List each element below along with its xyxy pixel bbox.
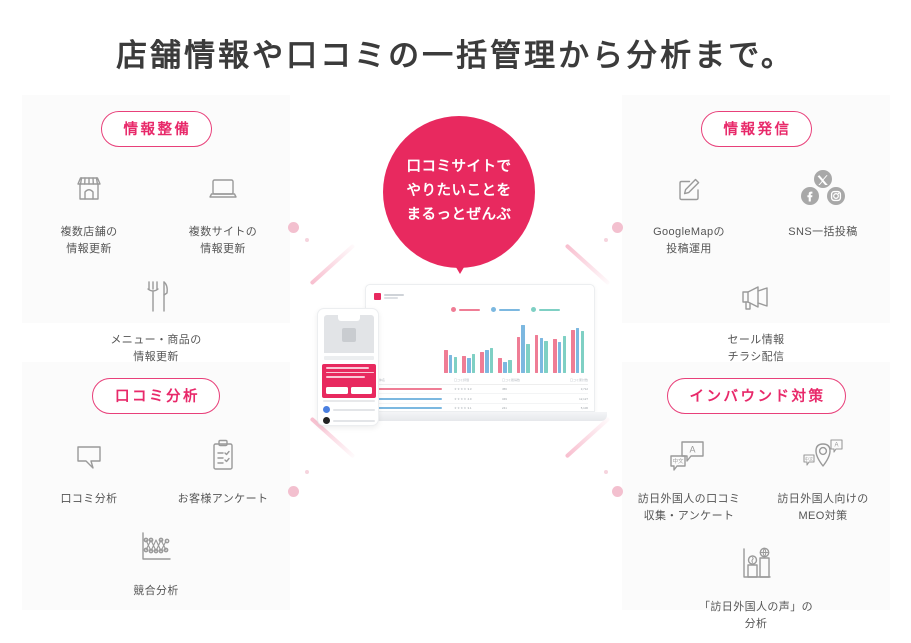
quadrant-joho-hasshin: 情報発信 GoogleMapの 投稿運用	[622, 95, 890, 371]
table-header-row: 媒体名 口コミ評価 口コミ獲得数 口コミ累計数	[376, 378, 588, 385]
decorative-dot-small	[604, 470, 608, 474]
svg-text:A: A	[834, 443, 838, 449]
phone-list-item[interactable]	[323, 416, 375, 425]
pill-wrap: 情報整備	[22, 111, 290, 147]
speech-bubble-icon	[69, 430, 109, 482]
table-header-cell: 媒体名	[376, 378, 454, 382]
table-row[interactable]: ★★★★ 4.034912,127	[376, 394, 588, 403]
item-list: 複数店舗の 情報更新 複数サイトの 情報更新	[22, 163, 290, 371]
chart-bar	[472, 354, 476, 373]
chart-bar	[571, 330, 575, 373]
center-bubble-text: 口コミサイトで やりたいことを まるっとぜんぶ	[407, 156, 512, 228]
feature-item[interactable]: 複数店舗の 情報更新	[22, 163, 156, 257]
feature-label: セール情報 チラシ配信	[728, 332, 785, 365]
decorative-dot-small	[305, 238, 309, 242]
page-title: 店舗情報や口コミの一括管理から分析まで。	[0, 30, 911, 75]
phone-card-button[interactable]	[351, 387, 373, 394]
dashboard-logo	[374, 293, 404, 300]
quadrant-inbound-taisaku: インバウンド対策 A 中文 訪日外国人の口コミ 収集・アンケート	[622, 362, 890, 638]
feature-label: 「訪日外国人の声」の 分析	[699, 599, 813, 632]
translate-bubbles-icon: A 中文	[665, 430, 713, 482]
pill-wrap: 情報発信	[622, 111, 890, 147]
feature-label: SNS一括投稿	[788, 224, 857, 241]
table-cell-count: 349	[502, 397, 546, 401]
megaphone-icon	[736, 271, 776, 323]
laptop-base	[353, 412, 607, 421]
chart-bar	[535, 335, 539, 373]
quadrant-joho-seibi: 情報整備 複数店舗の 情報更新	[22, 95, 290, 371]
chart-bar	[508, 360, 512, 373]
item-list: A 中文 訪日外国人の口コミ 収集・アンケート A 中文	[622, 430, 890, 638]
feature-item[interactable]: 「訪日外国人の声」の 分析	[622, 538, 890, 632]
decorative-dot-small	[305, 470, 309, 474]
map-pin-translate-icon: A 中文	[799, 430, 847, 482]
social-icons	[796, 163, 850, 215]
chart-bar	[444, 350, 448, 373]
laptop-screen: 媒体名 口コミ評価 口コミ獲得数 口コミ累計数 ★★★★ 3.34563,712…	[365, 284, 595, 412]
table-cell-total: 3,712	[546, 387, 588, 391]
feature-label: メニュー・商品の 情報更新	[110, 332, 201, 365]
chart-bar	[526, 344, 530, 373]
bar-group	[553, 323, 566, 373]
phone-note	[323, 400, 375, 402]
feature-label: 口コミ分析	[61, 491, 118, 508]
bar-group	[535, 323, 548, 373]
chart-bar	[553, 339, 557, 373]
chart-bar	[544, 341, 548, 373]
laptop-icon	[205, 163, 241, 215]
feature-item[interactable]: 口コミ分析	[22, 430, 156, 508]
pill-label-kuchikomi-bunseki: 口コミ分析	[92, 378, 220, 414]
bar-group	[462, 323, 475, 373]
storefront-icon	[71, 163, 107, 215]
feature-item[interactable]: A 中文 訪日外国人の口コミ 収集・アンケート	[622, 430, 756, 524]
dashboard-bar-chart	[444, 323, 584, 373]
feature-item[interactable]: SNS一括投稿	[756, 163, 890, 257]
table-row[interactable]: ★★★★ 3.12415,106	[376, 404, 588, 412]
table-cell-count: 241	[502, 406, 546, 410]
svg-text:A: A	[689, 445, 695, 455]
chart-bar	[485, 350, 489, 373]
table-cell-rating: ★★★★ 4.0	[454, 397, 502, 401]
feature-item[interactable]: A 中文 訪日外国人向けの MEO対策	[756, 430, 890, 524]
table-row[interactable]: ★★★★ 3.34563,712	[376, 385, 588, 394]
phone-card-button[interactable]	[326, 387, 348, 394]
table-header-cell: 口コミ獲得数	[502, 378, 546, 382]
chart-bar	[540, 338, 544, 373]
table-cell-rating: ★★★★ 3.1	[454, 406, 502, 410]
decorative-dot	[288, 486, 299, 497]
device-mockup: 媒体名 口コミ評価 口コミ獲得数 口コミ累計数 ★★★★ 3.34563,712…	[305, 280, 605, 440]
chart-bar	[449, 355, 453, 373]
chart-bar	[517, 337, 521, 373]
chart-bar	[454, 357, 458, 373]
feature-item[interactable]: セール情報 チラシ配信	[622, 271, 890, 365]
pill-wrap: 口コミ分析	[22, 378, 290, 414]
feature-label: 複数サイトの 情報更新	[189, 224, 257, 257]
decorative-dot-small	[604, 238, 608, 242]
table-header-cell: 口コミ累計数	[546, 378, 588, 382]
phone-mockup	[317, 308, 379, 426]
table-body: ★★★★ 3.34563,712★★★★ 4.034912,127★★★★ 3.…	[376, 385, 588, 412]
table-cell-trend	[376, 406, 454, 410]
chart-bar	[558, 342, 562, 373]
chart-legend	[451, 307, 560, 312]
feature-label: 訪日外国人の口コミ 収集・アンケート	[638, 491, 741, 524]
chart-bar	[490, 348, 494, 373]
chart-bar	[462, 356, 466, 373]
feature-item[interactable]: 複数サイトの 情報更新	[156, 163, 290, 257]
pill-label-joho-hasshin: 情報発信	[701, 111, 812, 147]
infographic-root: 店舗情報や口コミの一括管理から分析まで。 情報整備	[0, 0, 911, 643]
table-cell-trend	[376, 397, 454, 401]
pencil-square-icon	[671, 163, 707, 215]
chart-bar	[503, 362, 507, 373]
table-cell-rating: ★★★★ 3.3	[454, 387, 502, 391]
bar-group	[480, 323, 493, 373]
phone-caption	[324, 356, 374, 360]
feature-item[interactable]: お客様アンケート	[156, 430, 290, 508]
clipboard-check-icon	[205, 430, 241, 482]
bar-group	[498, 323, 511, 373]
svg-text:中文: 中文	[672, 457, 684, 465]
feature-item[interactable]: 競合分析	[22, 522, 290, 600]
feature-label: 訪日外国人向けの MEO対策	[777, 491, 868, 524]
table-cell-total: 12,127	[546, 397, 588, 401]
chart-bar	[521, 325, 525, 373]
quadrant-kuchikomi-bunseki: 口コミ分析 口コミ分析	[22, 362, 290, 605]
decorative-dot	[612, 222, 623, 233]
phone-promo-card	[322, 364, 376, 398]
chart-bar	[498, 358, 502, 373]
feature-label: 競合分析	[133, 583, 179, 600]
pill-label-joho-seibi: 情報整備	[101, 111, 212, 147]
feature-label: 複数店舗の 情報更新	[61, 224, 118, 257]
decorative-dot	[288, 222, 299, 233]
pill-wrap: インバウンド対策	[622, 378, 890, 414]
fork-knife-icon	[138, 271, 174, 323]
table-cell-trend	[376, 387, 454, 391]
table-cell-count: 456	[502, 387, 546, 391]
pill-label-inbound-taisaku: インバウンド対策	[667, 378, 846, 414]
chart-bar	[581, 331, 585, 373]
scatter-chart-icon	[134, 522, 178, 574]
table-cell-total: 5,106	[546, 406, 588, 410]
center-bubble: 口コミサイトで やりたいことを まるっとぜんぶ	[383, 116, 535, 268]
item-list: 口コミ分析 お客様アンケート	[22, 430, 290, 605]
table-header-cell: 口コミ評価	[454, 378, 502, 382]
bar-chart-globe-icon	[734, 538, 778, 590]
item-list: GoogleMapの 投稿運用 SNS一括投稿	[622, 163, 890, 371]
decorative-dot	[612, 486, 623, 497]
chart-bar	[563, 336, 567, 373]
svg-text:中文: 中文	[805, 455, 814, 462]
bar-group	[444, 323, 457, 373]
feature-label: GoogleMapの 投稿運用	[653, 224, 725, 257]
phone-hero-image	[324, 315, 374, 353]
dashboard-table: 媒体名 口コミ評価 口コミ獲得数 口コミ累計数 ★★★★ 3.34563,712…	[376, 378, 588, 412]
chart-bar	[576, 328, 580, 373]
feature-label: お客様アンケート	[178, 491, 269, 508]
feature-item[interactable]: GoogleMapの 投稿運用	[622, 163, 756, 257]
phone-list-item[interactable]	[323, 405, 375, 414]
chart-bar	[480, 352, 484, 373]
chart-bar	[467, 358, 471, 373]
bar-group	[571, 323, 584, 373]
feature-item[interactable]: メニュー・商品の 情報更新	[22, 271, 290, 365]
bar-group	[517, 323, 530, 373]
